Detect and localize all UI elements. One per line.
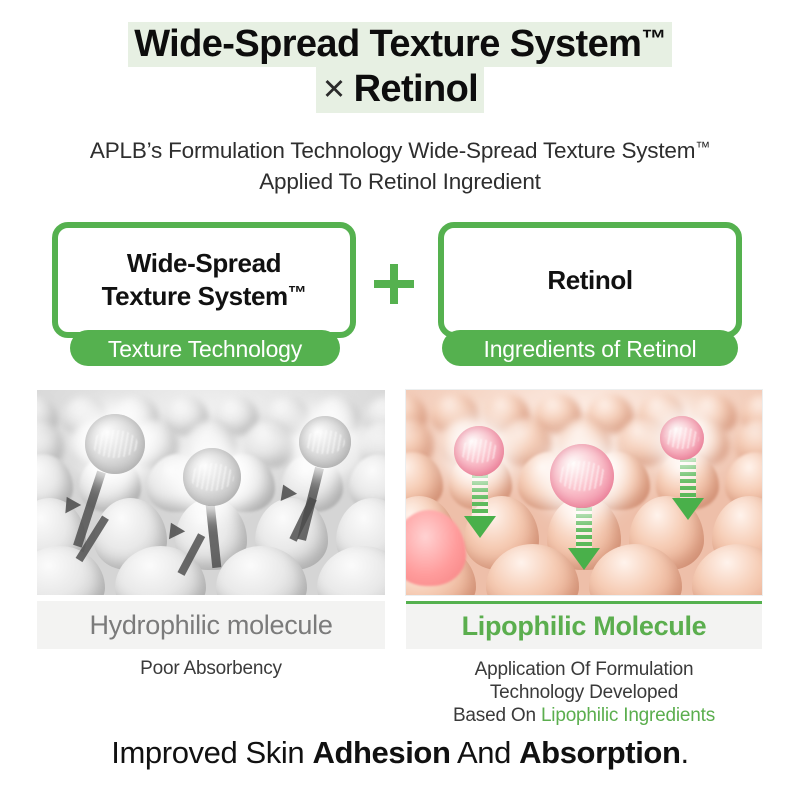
subcaption-poor-absorbency: Poor Absorbency (37, 658, 385, 680)
plus-icon (374, 264, 414, 304)
title-line-2-text: Retinol (354, 68, 479, 110)
subcaption-lipophilic-application: Application Of Formulation Technology De… (406, 658, 762, 728)
footer-bold-adhesion: Adhesion (312, 735, 450, 770)
caption-lipophilic: Lipophilic Molecule (406, 601, 762, 649)
green-arrow-head-3 (672, 498, 704, 520)
green-arrow-head-2 (568, 548, 600, 570)
subcaption-line-1: Application Of Formulation (406, 658, 762, 681)
subcaption-line-3-text: Based On (453, 705, 541, 726)
pill-label-texture-technology: Texture Technology (70, 330, 340, 366)
concept-box-texture-system: Wide-Spread Texture System™ (52, 222, 356, 338)
subcaption-line-3-highlight: Lipophilic Ingredients (541, 705, 715, 726)
caption-hydrophilic: Hydrophilic molecule (37, 601, 385, 649)
trademark-symbol: ™ (695, 139, 710, 156)
footer-tagline: Improved Skin Adhesion And Absorption. (0, 735, 800, 771)
trademark-symbol: ™ (641, 25, 665, 53)
molecule-bubble-1 (454, 426, 504, 476)
multiply-icon: ✕ (322, 74, 354, 106)
molecule-bubble-3 (299, 416, 351, 468)
concept-box-retinol: Retinol (438, 222, 742, 338)
title-line-2-highlight: ✕Retinol (316, 67, 484, 112)
title-line-1-highlight: Wide-Spread Texture System™ (128, 22, 671, 67)
hydrophilic-artwork (37, 390, 385, 595)
pill-label-ingredients-of-retinol: Ingredients of Retinol (442, 330, 738, 366)
concept-title-line-1: Wide-Spread (127, 248, 281, 278)
title-line-1-text: Wide-Spread Texture System (134, 23, 641, 65)
panel-lipophilic-image (406, 390, 762, 595)
footer-part-1: Improved Skin (111, 735, 312, 770)
page-title: Wide-Spread Texture System™ ✕Retinol (0, 22, 800, 113)
title-line-1: Wide-Spread Texture System™ (0, 22, 800, 67)
molecule-bubble-2 (183, 448, 241, 506)
title-line-2: ✕Retinol (0, 67, 800, 112)
lipophilic-artwork (406, 390, 762, 595)
footer-bold-absorption: Absorption (519, 735, 680, 770)
molecule-bubble-1 (85, 414, 145, 474)
subtitle-line-1: APLB’s Formulation Technology Wide-Sprea… (0, 136, 800, 167)
subcaption-line-3: Based On Lipophilic Ingredients (406, 704, 762, 727)
concept-title-line-2: Texture System (102, 281, 288, 311)
green-arrow-head-1 (464, 516, 496, 538)
footer-part-3: . (680, 735, 688, 770)
green-arrow-shaft-3 (680, 458, 696, 500)
subtitle-line-2: Applied To Retinol Ingredient (0, 167, 800, 198)
footer-part-2: And (450, 735, 519, 770)
molecule-bubble-3 (660, 416, 704, 460)
subtitle-line-1-text: APLB’s Formulation Technology Wide-Sprea… (90, 138, 695, 163)
concept-box-retinol-title: Retinol (547, 264, 632, 297)
trademark-symbol: ™ (288, 283, 307, 304)
panel-hydrophilic-image (37, 390, 385, 595)
molecule-bubble-2 (550, 444, 614, 508)
page-subtitle: APLB’s Formulation Technology Wide-Sprea… (0, 136, 800, 197)
subcaption-line-2: Technology Developed (406, 681, 762, 704)
concept-box-texture-title: Wide-Spread Texture System™ (102, 247, 307, 313)
green-arrow-shaft-1 (472, 474, 488, 518)
